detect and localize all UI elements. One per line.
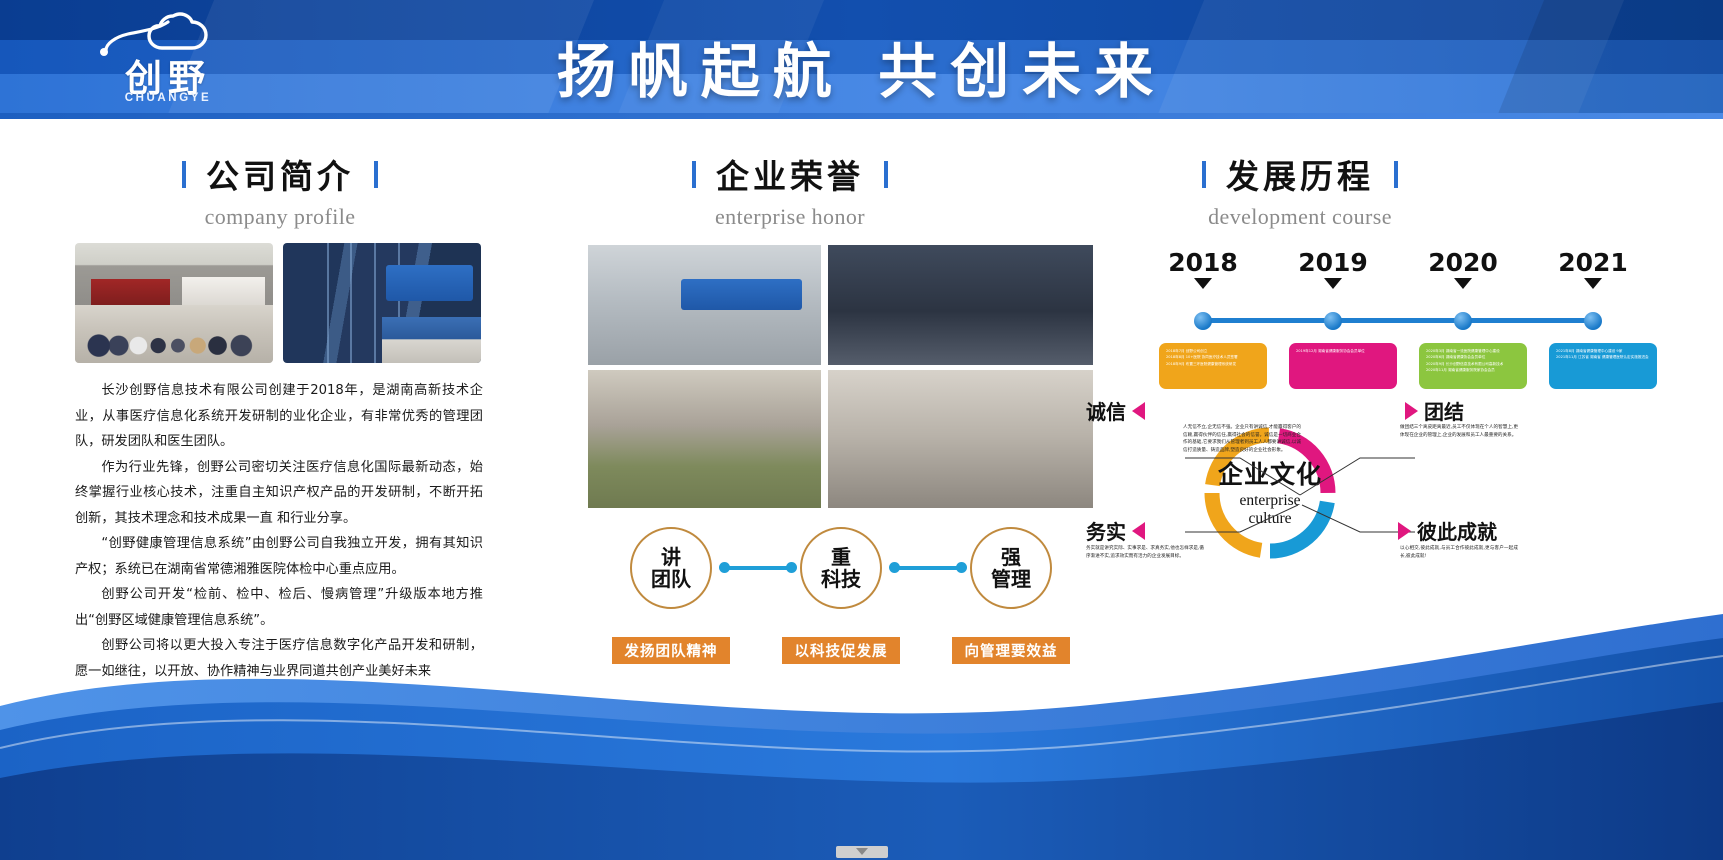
value-circle-1-line2: 团队	[651, 568, 691, 590]
timeline-node-2021	[1584, 312, 1602, 330]
heading-bar-left	[692, 161, 696, 188]
culture-label-tuanjie: 团结	[1405, 396, 1464, 425]
section-title-honor-en: enterprise honor	[585, 204, 995, 230]
timeline-node-2018	[1194, 312, 1212, 330]
timeline-node-2020	[1454, 312, 1472, 330]
value-circle-2-line2: 科技	[821, 568, 861, 590]
heading-bar-left	[182, 161, 186, 188]
culture-label-chengxin-text: 诚信	[1086, 396, 1126, 425]
timeline-caret-2018	[1194, 278, 1212, 289]
value-circle-3: 强 管理	[970, 527, 1052, 609]
culture-label-wushi: 务实	[1086, 516, 1145, 545]
culture-center-cn: 企业文化	[1195, 455, 1345, 491]
culture-arrow-right-icon	[1405, 402, 1418, 420]
culture-body-chengxin: 人无信不立,企无信不强。企业只有讲诚信,才能赢得客户的信赖,赢得伙伴的信任,赢得…	[1183, 424, 1301, 454]
value-circle-1: 讲 团队	[630, 527, 712, 609]
timeline-card-2018: 2018年7月 创野公司创立 2018年8月 10+医院 协同医疗技术人员签署 …	[1159, 343, 1267, 389]
photo-honor-2	[828, 245, 1093, 365]
timeline-card-2021: 2021年8月 湖南省健康管理中心建设 9家 2021年11月 江苏省 湖南省 …	[1549, 343, 1657, 389]
culture-label-wushi-text: 务实	[1086, 516, 1126, 545]
culture-body-tuanjie: 做团结三个离皮距离最近,员工不仅体现在个人的智慧上,更体现在企业的管理上,企业的…	[1400, 424, 1518, 439]
timeline-card-2019: 2019年12月 湖南省健康服务协会会员单位	[1289, 343, 1397, 389]
value-circle-3-line2: 管理	[991, 568, 1031, 590]
value-circle-2: 重 科技	[800, 527, 882, 609]
value-connector-1	[725, 566, 790, 570]
value-connector-dot-1b	[786, 562, 797, 573]
timeline-year-2021: 2021	[1548, 248, 1638, 277]
timeline-year-2018: 2018	[1158, 248, 1248, 277]
timeline-year-2020: 2020	[1418, 248, 1508, 277]
section-title-profile-en: company profile	[75, 204, 485, 230]
heading-bar-right	[884, 161, 888, 188]
value-circle-3-line1: 强	[1001, 546, 1021, 568]
timeline-card-2019-line1: 2019年12月 湖南省健康服务协会会员单位	[1296, 348, 1391, 354]
chevron-down-icon[interactable]	[856, 848, 868, 855]
culture-center-en-line2: culture	[1195, 510, 1345, 528]
poster-header: 创野 CHUANGYE 扬帆起航 共创未来	[0, 0, 1723, 119]
value-connector-dot-2a	[889, 562, 900, 573]
heading-bar-left	[1202, 161, 1206, 188]
heading-bar-right	[374, 161, 378, 188]
culture-center-en-line1: enterprise	[1195, 492, 1345, 510]
timeline-caret-2020	[1454, 278, 1472, 289]
timeline-card-2020-line4: 2020年11月 湖南省健康服务院家协会会员	[1426, 367, 1521, 373]
photo-team-people	[75, 305, 273, 363]
culture-label-bicichengjiu: 彼此成就	[1398, 516, 1497, 545]
timeline-card-2020: 2020年3月 湖南省一流医院健康管理中心建设 2020年6月 湖南省健康协会会…	[1419, 343, 1527, 389]
culture-arrow-left-icon-2	[1132, 522, 1145, 540]
value-circle-1-line1: 讲	[661, 546, 681, 568]
header-underline	[0, 113, 1723, 119]
photo-office-wall-banner	[386, 265, 473, 301]
section-heading-course: 发展历程 development course	[1095, 150, 1505, 230]
value-connector-dot-1a	[719, 562, 730, 573]
culture-body-bicichengjiu: 以心相交,彼此成就,与员工合作彼此成就,更与客户一起成长,彼此成就!	[1400, 545, 1518, 560]
timeline-rail	[1203, 318, 1593, 323]
profile-paragraph-1: 长沙创野信息技术有限公司创建于2018年，是湖南高新技术企业，从事医疗信息化系统…	[75, 378, 483, 455]
poster-canvas: 创野 CHUANGYE 扬帆起航 共创未来 公司简介 company profi…	[0, 0, 1723, 860]
section-heading-profile: 公司简介 company profile	[75, 150, 485, 230]
photo-team-lobby	[75, 243, 273, 363]
culture-label-tuanjie-text: 团结	[1424, 396, 1464, 425]
photo-honor-4	[828, 370, 1093, 508]
photo-honor-3	[588, 370, 821, 508]
profile-paragraph-3: “创野健康管理信息系统”由创野公司自我独立开发，拥有其知识产权；系统已在湖南省常…	[75, 531, 483, 582]
section-title-course-en: development course	[1095, 204, 1505, 230]
timeline-card-2021-line2: 2021年11月 江苏省 湖南省 健康管理医院认定实施推进会	[1556, 354, 1651, 360]
section-title-honor-text: 企业荣誉	[716, 150, 864, 198]
section-title-honor-cn: 企业荣誉	[585, 150, 995, 198]
culture-arrow-left-icon	[1132, 402, 1145, 420]
section-title-course-text: 发展历程	[1226, 150, 1374, 198]
culture-arrow-right-icon-2	[1398, 522, 1411, 540]
culture-center-label: 企业文化 enterprise culture	[1195, 455, 1345, 528]
culture-body-wushi: 务实就是讲究实际、实事求是、求真务实,他也怎样求是,循序渐进不实,追求效实而有活…	[1086, 545, 1204, 560]
section-title-profile-cn: 公司简介	[75, 150, 485, 198]
timeline-caret-2019	[1324, 278, 1342, 289]
culture-label-bicichengjiu-text: 彼此成就	[1417, 516, 1497, 545]
value-connector-2	[895, 566, 960, 570]
section-title-profile-text: 公司简介	[206, 150, 354, 198]
profile-paragraph-2: 作为行业先锋，创野公司密切关注医疗信息化国际最新动态，始终掌握行业核心技术，注重…	[75, 455, 483, 532]
photo-office-glass	[283, 243, 481, 363]
value-connector-dot-2b	[956, 562, 967, 573]
culture-label-chengxin: 诚信	[1086, 396, 1145, 425]
value-circle-2-line1: 重	[831, 546, 851, 568]
section-title-course-cn: 发展历程	[1095, 150, 1505, 198]
timeline-card-2018-line3: 2018年9月 布置三环医院健康管理系统研发	[1166, 361, 1261, 367]
photo-honor-1	[588, 245, 821, 365]
timeline-year-2019: 2019	[1288, 248, 1378, 277]
photo-office-sofa	[382, 317, 481, 363]
footer-wave-decoration	[0, 610, 1723, 860]
timeline-node-2019	[1324, 312, 1342, 330]
heading-bar-right	[1394, 161, 1398, 188]
section-heading-honor: 企业荣誉 enterprise honor	[585, 150, 995, 230]
timeline-caret-2021	[1584, 278, 1602, 289]
poster-title: 扬帆起航 共创未来	[0, 24, 1723, 109]
